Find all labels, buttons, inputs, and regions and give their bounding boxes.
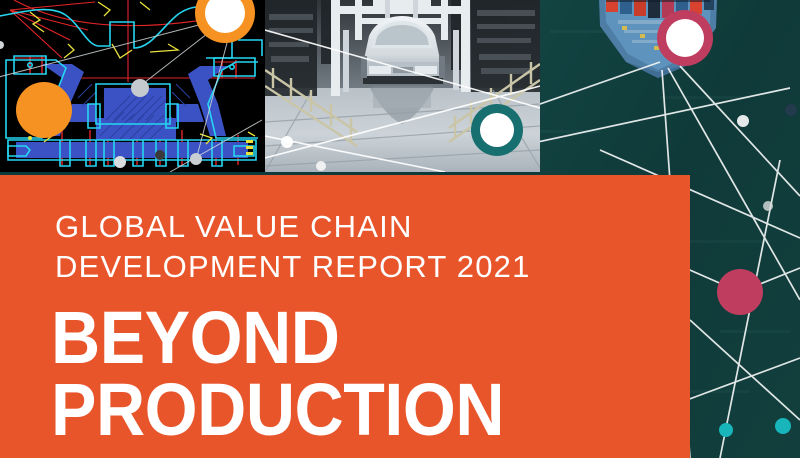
orange-dot-marker — [16, 82, 72, 138]
technical-drawing-image — [0, 0, 265, 172]
page-title-line-2: PRODUCTION — [51, 373, 504, 447]
assembly-line-image — [265, 0, 540, 172]
report-cover: GLOBAL VALUE CHAIN DEVELOPMENT REPORT 20… — [0, 0, 800, 458]
report-series-line-1: GLOBAL VALUE CHAIN — [55, 207, 413, 247]
page-title-line-1: BEYOND — [51, 301, 340, 375]
assembly-line-panel — [265, 0, 540, 172]
report-series-line-2: DEVELOPMENT REPORT 2021 — [55, 247, 531, 287]
teal-ring-marker — [471, 104, 523, 156]
title-block: GLOBAL VALUE CHAIN DEVELOPMENT REPORT 20… — [0, 175, 690, 458]
crimson-ring-marker — [657, 10, 713, 66]
technical-drawing-panel — [0, 0, 265, 172]
